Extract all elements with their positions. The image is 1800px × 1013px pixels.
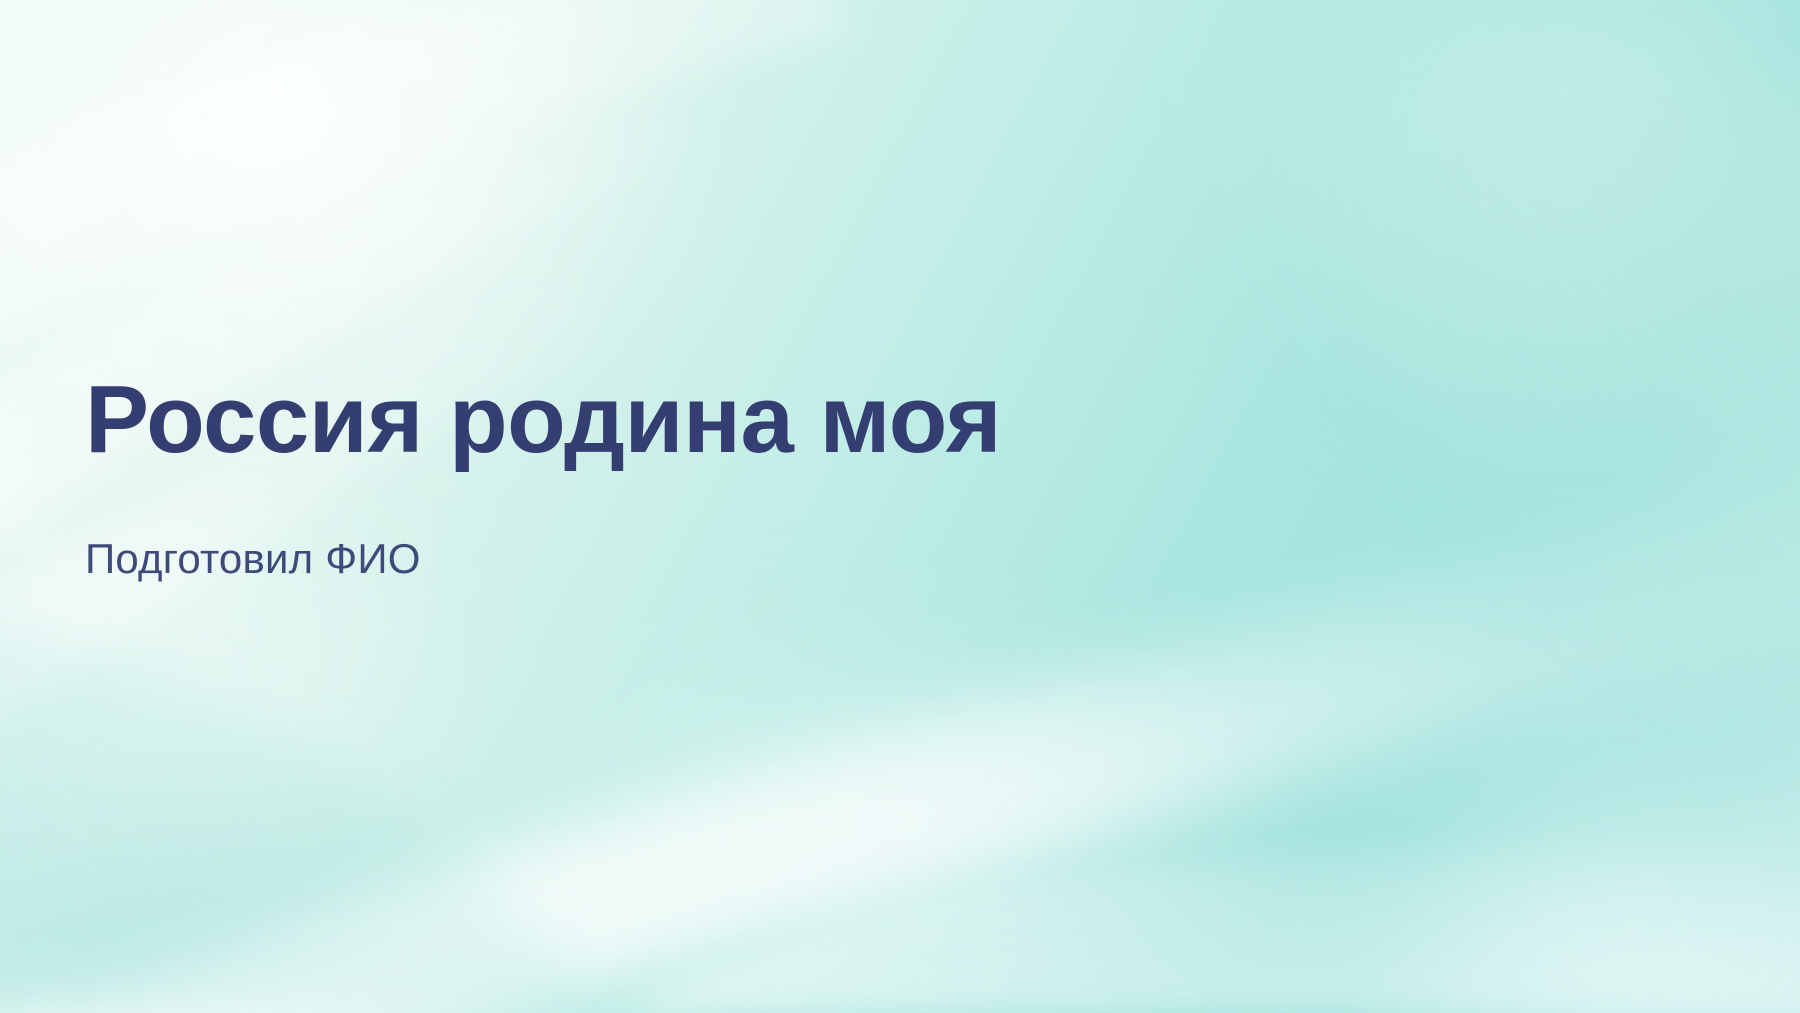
background-glow-bottom-left — [0, 760, 620, 1013]
slide-text-block: Россия родина моя Подготовил ФИО — [85, 372, 1535, 582]
background-glow-center-band — [330, 560, 1480, 1013]
slide-subtitle: Подготовил ФИО — [85, 468, 1535, 582]
page-title: Россия родина моя — [85, 372, 1535, 468]
title-slide: Россия родина моя Подготовил ФИО — [0, 0, 1800, 1013]
background-glow-bottom-right — [1180, 640, 1800, 1013]
